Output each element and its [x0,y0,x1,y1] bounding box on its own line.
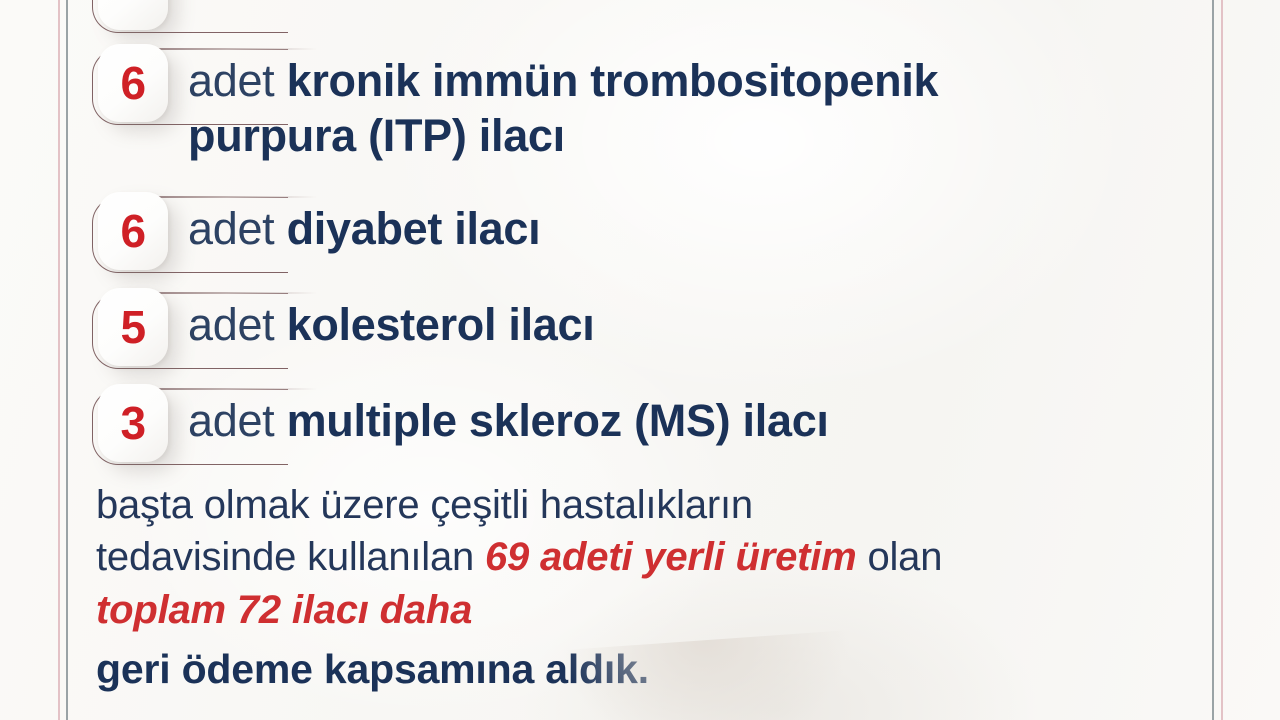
count-value: 5 [120,304,145,350]
list-item: 6 adet kronik immün trombositopenik purp… [92,40,1172,188]
closing-line-4-text: geri ödeme kapsamına aldık. [96,646,649,692]
right-border-rules [1212,0,1252,720]
statistics-list: 6 adet kronik immün trombositopenik purp… [92,0,1172,476]
stat-drug-label: kronik immün trombositopenik purpura (IT… [188,55,938,161]
stat-text: adet kolesterol ilacı [188,284,1172,353]
closing-line-1: başta olmak üzere çeşitli hastalıkların [96,480,1186,532]
infographic-poster: 6 adet kronik immün trombositopenik purp… [0,0,1280,720]
count-value: 3 [120,400,145,446]
left-grey-rule [66,0,68,720]
list-item: 3 adet multiple skleroz (MS) ilacı [92,380,1172,476]
closing-paragraph: başta olmak üzere çeşitli hastalıkların … [96,480,1186,696]
closing-line-2: tedavisinde kullanılan 69 adeti yerli ür… [96,532,1186,584]
closing-line-2-before: tedavisinde kullanılan [96,535,485,579]
stat-text: adet diyabet ilacı [188,188,1172,257]
right-grey-rule [1212,0,1214,720]
stat-drug-label: kolesterol ilacı [287,299,595,350]
closing-highlight-total: toplam 72 ilacı daha [96,588,472,632]
stat-drug-label: diyabet ilacı [287,203,541,254]
count-badge [98,0,168,30]
closing-line-3: toplam 72 ilacı daha [96,585,1186,637]
list-item: 6 adet diyabet ilacı [92,188,1172,284]
closing-line-2-after: olan [857,535,943,579]
count-value: 6 [120,60,145,106]
stat-text: adet kronik immün trombositopenik purpur… [188,40,1172,164]
closing-line-1-text: başta olmak üzere çeşitli hastalıkların [96,483,753,527]
list-item [92,0,1172,40]
count-badge: 6 [98,192,168,270]
closing-line-4: geri ödeme kapsamına aldık. [96,643,1186,696]
left-pink-rule [58,0,60,720]
count-value: 6 [120,208,145,254]
count-badge: 6 [98,44,168,122]
stat-text: adet multiple skleroz (MS) ilacı [188,380,1172,449]
list-item: 5 adet kolesterol ilacı [92,284,1172,380]
stat-drug-label: multiple skleroz (MS) ilacı [287,395,829,446]
closing-highlight-domestic: 69 adeti yerli üretim [485,535,857,579]
left-border-rules [30,0,70,720]
count-badge: 3 [98,384,168,462]
right-pink-rule [1221,0,1223,720]
count-badge: 5 [98,288,168,366]
